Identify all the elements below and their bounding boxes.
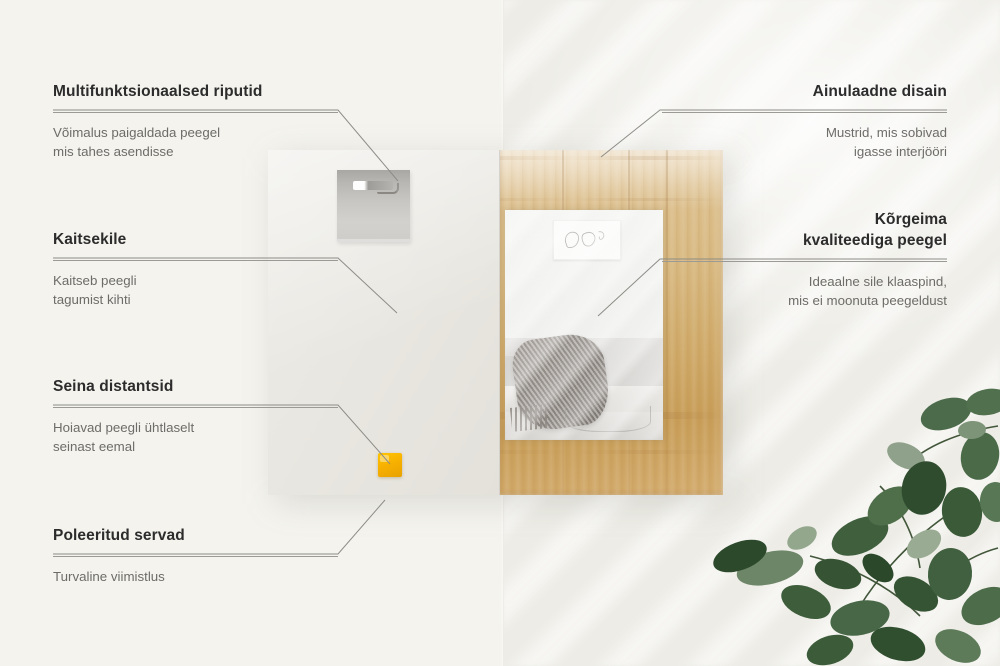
callout-description: Turvaline viimistlus <box>53 567 338 586</box>
hanger-plate <box>337 170 410 242</box>
framed-mirror <box>500 150 723 495</box>
callout-rule <box>53 260 338 261</box>
callout-poleeritud-servad: Poleeritud servad Turvaline viimistlus <box>53 526 338 586</box>
infographic-canvas: Multifunktsionaalsed riputid Võimalus pa… <box>0 0 1000 666</box>
callout-ainulaadne-disain: Ainulaadne disain Mustrid, mis sobivad i… <box>662 82 947 161</box>
callout-description: Ideaalne sile klaaspind, mis ei moonuta … <box>662 272 947 311</box>
callout-title: Kõrgeima kvaliteediga peegel <box>662 210 947 252</box>
callout-rule <box>662 112 947 113</box>
callout-description: Kaitseb peegli tagumist kihti <box>53 271 338 310</box>
callout-seina-distantsid: Seina distantsid Hoiavad peegli ühtlasel… <box>53 377 338 456</box>
callout-description: Mustrid, mis sobivad igasse interjööri <box>662 123 947 162</box>
leaf-cluster <box>710 385 1000 666</box>
callout-title: Kaitsekile <box>53 230 338 251</box>
wall-spacer <box>378 453 402 477</box>
callout-rule <box>53 112 338 113</box>
callout-rule <box>53 556 338 557</box>
spacer-highlight <box>380 455 389 462</box>
callout-multifunktsionaalsed-riputid: Multifunktsionaalsed riputid Võimalus pa… <box>53 82 338 161</box>
callout-rule <box>662 261 947 262</box>
hanger-edge <box>337 239 410 242</box>
callout-description: Võimalus paigaldada peegel mis tahes ase… <box>53 123 338 162</box>
callout-kaitsekile: Kaitsekile Kaitseb peegli tagumist kihti <box>53 230 338 309</box>
callout-title: Poleeritud servad <box>53 526 338 547</box>
callout-title: Multifunktsionaalsed riputid <box>53 82 338 103</box>
frame-edge-highlight <box>500 150 723 495</box>
callout-title: Seina distantsid <box>53 377 338 398</box>
callout-title: Ainulaadne disain <box>662 82 947 103</box>
foliage-decoration <box>710 306 1000 666</box>
callout-korgeima-kvaliteediga-peegel: Kõrgeima kvaliteediga peegel Ideaalne si… <box>662 210 947 310</box>
hanger-bracket <box>377 183 399 194</box>
callout-rule <box>53 407 338 408</box>
callout-description: Hoiavad peegli ühtlaselt seinast eemal <box>53 418 338 457</box>
